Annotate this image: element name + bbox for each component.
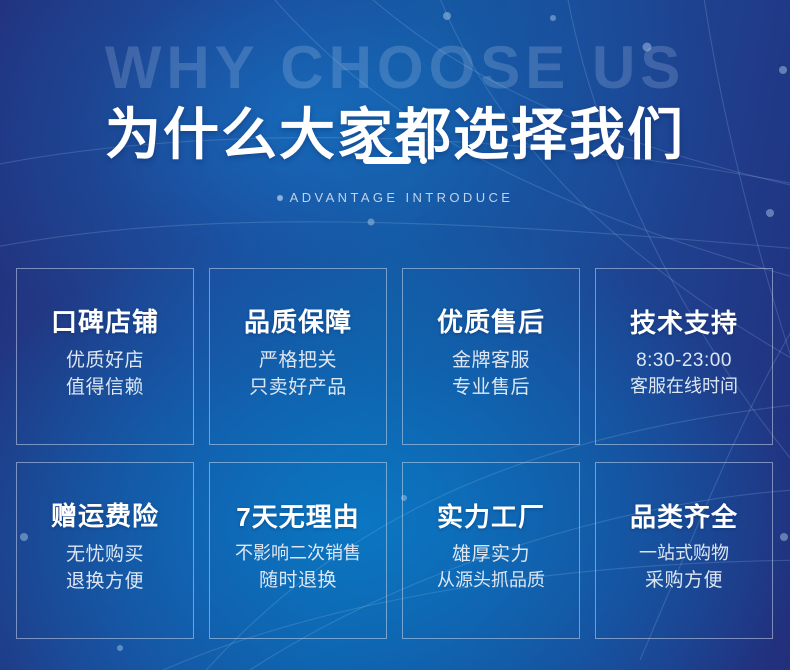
divider-dot-icon: [420, 157, 427, 164]
advantage-card[interactable]: 品质保障 严格把关 只卖好产品: [209, 268, 387, 445]
divider-bar: [363, 157, 411, 164]
card-lines: 一站式购物 采购方便: [639, 542, 729, 593]
card-title: 实力工厂: [437, 502, 545, 533]
card-title: 7天无理由: [236, 502, 359, 533]
card-title: 口碑店铺: [51, 307, 159, 338]
card-line: 采购方便: [639, 568, 729, 593]
card-line: 退换方便: [66, 569, 144, 594]
header: WHY CHOOSE US 为什么大家都选择我们 ADVANTAGE INTRO…: [0, 0, 790, 255]
card-lines: 无忧购买 退换方便: [66, 542, 144, 594]
advantage-card[interactable]: 口碑店铺 优质好店 值得信赖: [16, 268, 194, 445]
subtitle-row: ADVANTAGE INTRODUCE: [0, 190, 790, 205]
card-line: 只卖好产品: [249, 375, 347, 400]
card-lines: 雄厚实力 从源头抓品质: [437, 542, 545, 593]
card-title: 优质售后: [437, 307, 545, 338]
page-subtitle: ADVANTAGE INTRODUCE: [290, 190, 514, 205]
subtitle-dot-icon: [277, 195, 283, 201]
advantage-card[interactable]: 优质售后 金牌客服 专业售后: [402, 268, 580, 445]
promo-banner: WHY CHOOSE US 为什么大家都选择我们 ADVANTAGE INTRO…: [0, 0, 790, 670]
advantage-card-grid: 口碑店铺 优质好店 值得信赖 品质保障 严格把关 只卖好产品 优质售后 金牌客服…: [16, 268, 774, 639]
card-title: 赠运费险: [51, 501, 159, 532]
card-lines: 8:30-23:00 客服在线时间: [630, 348, 738, 399]
card-line: 雄厚实力: [437, 542, 545, 567]
advantage-card[interactable]: 实力工厂 雄厚实力 从源头抓品质: [402, 462, 580, 639]
card-line: 一站式购物: [639, 542, 729, 566]
card-title: 品类齐全: [630, 502, 738, 533]
advantage-card[interactable]: 7天无理由 不影响二次销售 随时退换: [209, 462, 387, 639]
card-line: 客服在线时间: [630, 375, 738, 399]
card-lines: 优质好店 值得信赖: [66, 348, 144, 400]
advantage-card[interactable]: 赠运费险 无忧购买 退换方便: [16, 462, 194, 639]
card-line: 从源头抓品质: [437, 569, 545, 593]
card-line: 金牌客服: [452, 348, 530, 373]
divider: [0, 157, 790, 164]
card-title: 技术支持: [630, 308, 738, 339]
card-lines: 不影响二次销售 随时退换: [235, 542, 361, 593]
watermark-text: WHY CHOOSE US: [0, 38, 790, 98]
card-line: 值得信赖: [66, 375, 144, 400]
card-line: 严格把关: [249, 348, 347, 373]
card-line: 专业售后: [452, 375, 530, 400]
card-title: 品质保障: [244, 307, 352, 338]
card-line: 不影响二次销售: [235, 542, 361, 566]
card-line: 随时退换: [235, 568, 361, 593]
advantage-card[interactable]: 品类齐全 一站式购物 采购方便: [595, 462, 773, 639]
card-line: 无忧购买: [66, 542, 144, 567]
advantage-card[interactable]: 技术支持 8:30-23:00 客服在线时间: [595, 268, 773, 445]
card-lines: 严格把关 只卖好产品: [249, 348, 347, 400]
card-line: 优质好店: [66, 348, 144, 373]
card-lines: 金牌客服 专业售后: [452, 348, 530, 400]
card-line-hours: 8:30-23:00: [630, 348, 738, 373]
